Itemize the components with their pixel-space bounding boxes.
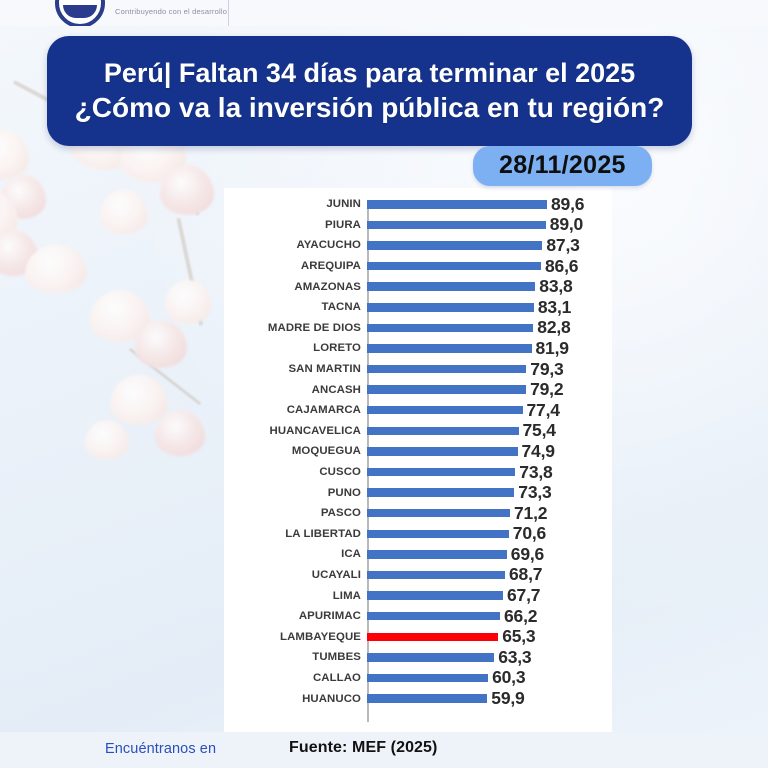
poster-canvas: Contribuyendo con el desarrollo Perú| Fa… xyxy=(0,0,768,768)
bar xyxy=(367,200,547,209)
bar-value-label: 75,4 xyxy=(523,420,556,441)
bar-row: LA LIBERTAD70,6 xyxy=(224,524,612,545)
bar xyxy=(367,324,533,333)
logo-tagline: Contribuyendo con el desarrollo xyxy=(115,7,227,16)
bar-category-label: APURIMAC xyxy=(224,610,367,622)
bar-track: 65,3 xyxy=(367,626,612,647)
bar-track: 63,3 xyxy=(367,647,612,668)
bar xyxy=(367,468,515,477)
bar xyxy=(367,509,510,518)
bar xyxy=(367,571,505,580)
bar-value-label: 73,8 xyxy=(519,462,552,483)
bar-value-label: 63,3 xyxy=(498,647,531,668)
bar-track: 83,1 xyxy=(367,297,612,318)
bar-category-label: ANCASH xyxy=(224,384,367,396)
bar-category-label: TUMBES xyxy=(224,651,367,663)
bar-track: 67,7 xyxy=(367,585,612,606)
bar-track: 70,6 xyxy=(367,524,612,545)
bar xyxy=(367,591,503,600)
bar xyxy=(367,365,526,374)
logo-divider xyxy=(228,0,229,26)
bar-value-label: 71,2 xyxy=(514,503,547,524)
bar-category-label: ICA xyxy=(224,548,367,560)
footer-bar: Encuéntranos en Fuente: MEF (2025) xyxy=(0,732,768,768)
bar-track: 77,4 xyxy=(367,400,612,421)
bar-row: HUANCAVELICA75,4 xyxy=(224,421,612,442)
bar-value-label: 66,2 xyxy=(504,606,537,627)
bar-highlighted xyxy=(367,633,498,642)
bar-row: JUNIN89,6 xyxy=(224,194,612,215)
bar-value-label: 65,3 xyxy=(502,626,535,647)
bar-value-label: 60,3 xyxy=(492,667,525,688)
bar xyxy=(367,488,514,497)
bar-row: APURIMAC66,2 xyxy=(224,606,612,627)
bar-value-label: 59,9 xyxy=(491,688,524,709)
bar-value-label: 83,8 xyxy=(539,276,572,297)
bar-track: 69,6 xyxy=(367,544,612,565)
bar-list: JUNIN89,6PIURA89,0AYACUCHO87,3AREQUIPA86… xyxy=(224,194,612,709)
bar-value-label: 79,2 xyxy=(530,379,563,400)
bar-value-label: 77,4 xyxy=(527,400,560,421)
bar-category-label: AYACUCHO xyxy=(224,239,367,251)
bar-row: AMAZONAS83,8 xyxy=(224,276,612,297)
bar xyxy=(367,447,518,456)
bar-category-label: AREQUIPA xyxy=(224,260,367,272)
bar-track: 60,3 xyxy=(367,668,612,689)
bar-track: 82,8 xyxy=(367,318,612,339)
bar-row: AYACUCHO87,3 xyxy=(224,235,612,256)
bar-track: 79,3 xyxy=(367,359,612,380)
bar-track: 89,6 xyxy=(367,194,612,215)
bar-value-label: 79,3 xyxy=(530,359,563,380)
bar xyxy=(367,241,542,250)
bar-row: CUSCO73,8 xyxy=(224,462,612,483)
title-banner: Perú| Faltan 34 días para terminar el 20… xyxy=(47,36,692,146)
bar-chart: JUNIN89,6PIURA89,0AYACUCHO87,3AREQUIPA86… xyxy=(224,188,612,732)
bar xyxy=(367,427,519,436)
bar-row: MADRE DE DIOS82,8 xyxy=(224,318,612,339)
bar xyxy=(367,406,523,415)
bar-category-label: SAN MARTIN xyxy=(224,363,367,375)
bar-row: LIMA67,7 xyxy=(224,585,612,606)
banner-title-line2: ¿Cómo va la inversión pública en tu regi… xyxy=(75,90,665,126)
chart-panel: JUNIN89,6PIURA89,0AYACUCHO87,3AREQUIPA86… xyxy=(224,188,612,732)
bar-row: ANCASH79,2 xyxy=(224,379,612,400)
bar-track: 73,3 xyxy=(367,482,612,503)
bar-category-label: MOQUEGUA xyxy=(224,445,367,457)
source-label: Fuente: MEF (2025) xyxy=(289,739,438,757)
bar xyxy=(367,262,541,271)
bar-category-label: UCAYALI xyxy=(224,569,367,581)
bar-row: UCAYALI68,7 xyxy=(224,565,612,586)
bar-category-label: PUNO xyxy=(224,487,367,499)
bar-value-label: 74,9 xyxy=(522,441,555,462)
bar xyxy=(367,303,534,312)
organization-logo: Contribuyendo con el desarrollo xyxy=(55,0,227,26)
bar-track: 74,9 xyxy=(367,441,612,462)
top-logo-strip: Contribuyendo con el desarrollo xyxy=(0,0,768,26)
bar-category-label: LORETO xyxy=(224,342,367,354)
bar-row: PUNO73,3 xyxy=(224,482,612,503)
bar-row: TACNA83,1 xyxy=(224,297,612,318)
bar-value-label: 73,3 xyxy=(518,482,551,503)
bar-track: 73,8 xyxy=(367,462,612,483)
bar-row: HUANUCO59,9 xyxy=(224,688,612,709)
bar-category-label: CAJAMARCA xyxy=(224,404,367,416)
bar-track: 81,9 xyxy=(367,338,612,359)
bar-row: LORETO81,9 xyxy=(224,338,612,359)
bar-category-label: LA LIBERTAD xyxy=(224,528,367,540)
bar-value-label: 70,6 xyxy=(513,523,546,544)
bar-category-label: MADRE DE DIOS xyxy=(224,322,367,334)
bar-row: PIURA89,0 xyxy=(224,215,612,236)
bar-row: PASCO71,2 xyxy=(224,503,612,524)
bar-row: ICA69,6 xyxy=(224,544,612,565)
bar xyxy=(367,653,494,662)
bar-row: CALLAO60,3 xyxy=(224,668,612,689)
bar-row: SAN MARTIN79,3 xyxy=(224,359,612,380)
bar-category-label: PIURA xyxy=(224,219,367,231)
bar-row: MOQUEGUA74,9 xyxy=(224,441,612,462)
bar-category-label: PASCO xyxy=(224,507,367,519)
bar-track: 89,0 xyxy=(367,215,612,236)
bar xyxy=(367,221,546,230)
bar-category-label: LIMA xyxy=(224,590,367,602)
bar-value-label: 82,8 xyxy=(537,317,570,338)
bar-row: TUMBES63,3 xyxy=(224,647,612,668)
bar-row: AREQUIPA86,6 xyxy=(224,256,612,277)
date-badge: 28/11/2025 xyxy=(473,146,652,186)
bar xyxy=(367,612,500,621)
bar-category-label: CALLAO xyxy=(224,672,367,684)
bar xyxy=(367,550,507,559)
institution-seal-icon xyxy=(55,0,105,26)
bar-value-label: 89,6 xyxy=(551,194,584,215)
bar-row: LAMBAYEQUE65,3 xyxy=(224,626,612,647)
bar-track: 75,4 xyxy=(367,421,612,442)
bar-track: 83,8 xyxy=(367,276,612,297)
bar-row: CAJAMARCA77,4 xyxy=(224,400,612,421)
bar-category-label: HUANUCO xyxy=(224,693,367,705)
bar xyxy=(367,282,535,291)
find-us-label: Encuéntranos en xyxy=(105,741,216,757)
bar-category-label: AMAZONAS xyxy=(224,281,367,293)
bar-track: 59,9 xyxy=(367,688,612,709)
bar-value-label: 68,7 xyxy=(509,564,542,585)
bar-value-label: 86,6 xyxy=(545,256,578,277)
bar-value-label: 67,7 xyxy=(507,585,540,606)
bar-track: 66,2 xyxy=(367,606,612,627)
bar-value-label: 81,9 xyxy=(536,338,569,359)
banner-title-line1: Perú| Faltan 34 días para terminar el 20… xyxy=(104,56,635,90)
bar-category-label: TACNA xyxy=(224,301,367,313)
bar-value-label: 89,0 xyxy=(550,214,583,235)
bar-track: 71,2 xyxy=(367,503,612,524)
bar-track: 86,6 xyxy=(367,256,612,277)
bar-track: 87,3 xyxy=(367,235,612,256)
bar xyxy=(367,344,532,353)
bar-category-label: CUSCO xyxy=(224,466,367,478)
bar-track: 79,2 xyxy=(367,379,612,400)
bar-value-label: 69,6 xyxy=(511,544,544,565)
bar xyxy=(367,530,509,539)
bar-category-label: LAMBAYEQUE xyxy=(224,631,367,643)
bar xyxy=(367,674,488,683)
bar-category-label: HUANCAVELICA xyxy=(224,425,367,437)
bar xyxy=(367,694,487,703)
bar-value-label: 87,3 xyxy=(546,235,579,256)
bar-category-label: JUNIN xyxy=(224,198,367,210)
bar-value-label: 83,1 xyxy=(538,297,571,318)
bar xyxy=(367,385,526,394)
bar-track: 68,7 xyxy=(367,565,612,586)
